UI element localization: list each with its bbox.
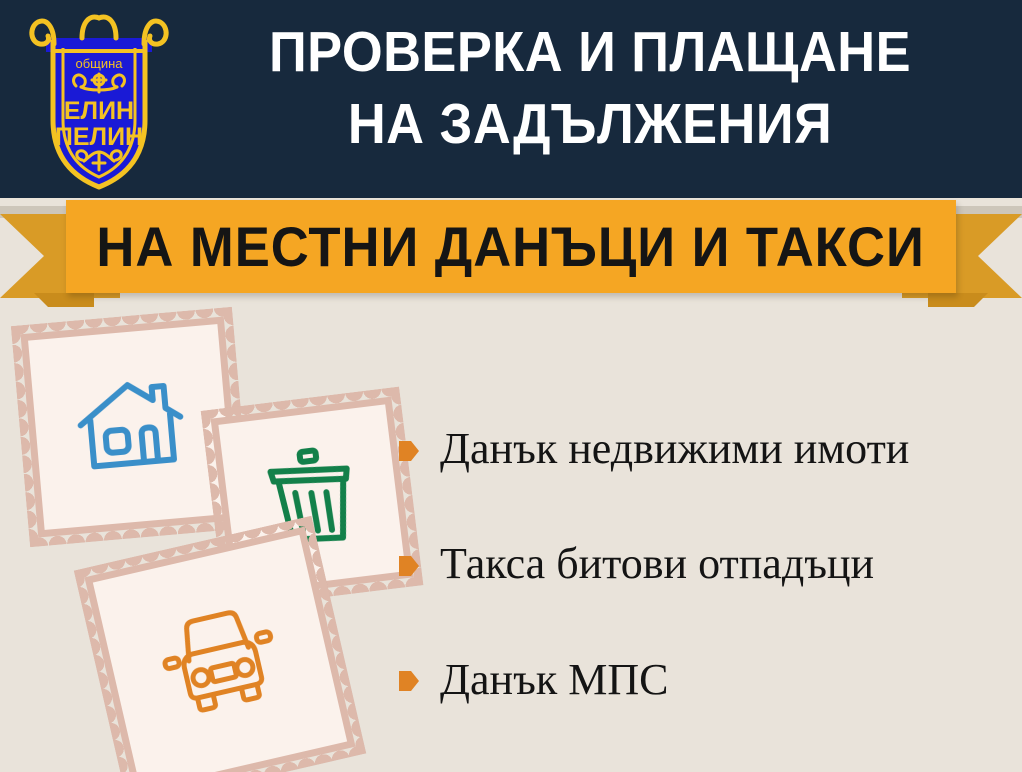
logo-text-obshtina: община [75, 56, 123, 71]
list-item[interactable]: Такса битови отпадъци [398, 539, 1008, 588]
stamp-paper [93, 535, 347, 772]
arrow-bullet-icon [398, 668, 420, 694]
ribbon-band: НА МЕСТНИ ДАНЪЦИ И ТАКСИ [66, 200, 956, 293]
list-item-label: Данък МПС [440, 655, 668, 704]
page-title: ПРОВЕРКА И ПЛАЩАНЕ НА ЗАДЪЛЖЕНИЯ [204, 16, 977, 160]
tax-type-list: Данък недвижими имоти Такса битови отпад… [398, 424, 1008, 770]
car-icon [152, 598, 289, 726]
ribbon-shadow-right [928, 293, 988, 307]
arrow-bullet-icon [398, 553, 420, 579]
ribbon-shadow-left [34, 293, 94, 307]
list-item[interactable]: Данък МПС [398, 655, 1008, 704]
arrow-bullet-icon [398, 438, 420, 464]
municipality-logo: община ЕЛИН ПЕЛИН [24, 8, 174, 192]
list-item[interactable]: Данък недвижими имоти [398, 424, 1008, 473]
ribbon-label: НА МЕСТНИ ДАНЪЦИ И ТАКСИ [97, 214, 925, 279]
logo-text-pelin: ПЕЛИН [55, 123, 143, 151]
house-icon [73, 372, 189, 482]
list-item-label: Такса битови отпадъци [440, 539, 874, 588]
poster-canvas: ПРОВЕРКА И ПЛАЩАНЕ НА ЗАДЪЛЖЕНИЯ община [0, 0, 1022, 772]
logo-text-elin: ЕЛИН [64, 97, 134, 125]
ribbon-banner: НА МЕСТНИ ДАНЪЦИ И ТАКСИ [0, 196, 1022, 316]
list-item-label: Данък недвижими имоти [440, 424, 909, 473]
